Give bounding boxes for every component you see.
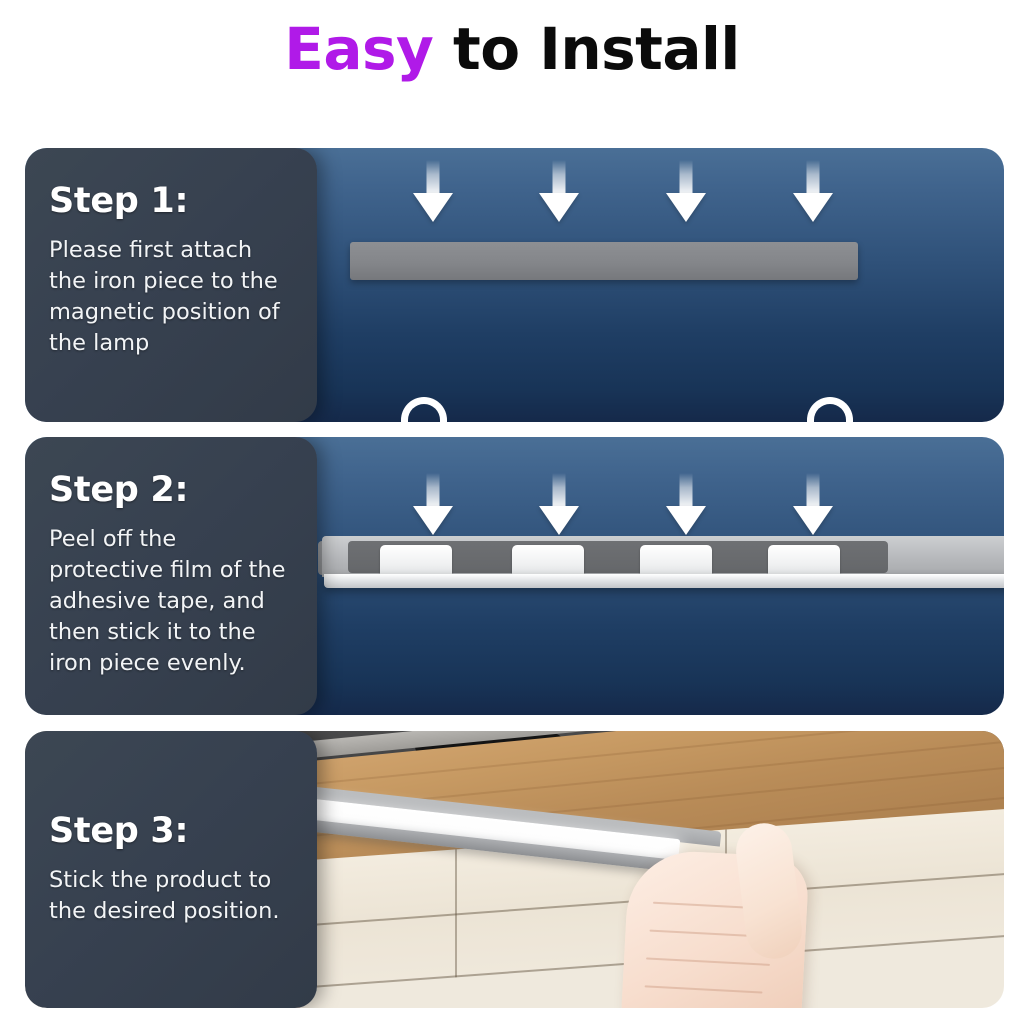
arrow-down-icon — [539, 160, 579, 222]
lamp-bar-with-tape — [322, 536, 1004, 589]
arrow-head — [539, 506, 579, 535]
iron-piece-strip — [350, 242, 858, 280]
step-title: Step 3: — [49, 812, 293, 851]
arrow-shaft — [807, 473, 820, 509]
arrow-down-icon — [793, 160, 833, 222]
step-body: Please first attach the iron piece to th… — [49, 235, 293, 359]
arrow-head — [413, 506, 453, 535]
arrow-shaft — [680, 473, 693, 509]
arrow-head — [793, 193, 833, 222]
arrow-head — [539, 193, 579, 222]
page-title: Easy to Install — [0, 18, 1024, 82]
step-card-2: Step 2: Peel off the protective film of … — [25, 437, 317, 715]
lamp-bottom-face — [324, 574, 1004, 588]
page-title-accent: Easy — [284, 15, 433, 83]
magnet-horseshoe — [401, 397, 447, 422]
step-card-3: Step 3: Stick the product to the desired… — [25, 731, 317, 1008]
arrow-shaft — [427, 473, 440, 509]
arrow-head — [666, 506, 706, 535]
arrow-down-icon — [413, 473, 453, 535]
arrow-down-icon — [793, 473, 833, 535]
finger-crease — [645, 985, 763, 993]
arrow-shaft — [553, 160, 566, 196]
arrow-shaft — [680, 160, 693, 196]
magnet-icon: ⚡ ⚡ — [801, 397, 859, 422]
step-title: Step 1: — [49, 182, 293, 221]
page-title-rest: to Install — [433, 15, 739, 83]
arrow-shaft — [807, 160, 820, 196]
step-panel-2: Step 2: Peel off the protective film of … — [25, 437, 1004, 715]
arrow-down-icon — [666, 473, 706, 535]
step-body: Peel off the protective film of the adhe… — [49, 524, 293, 679]
step-panel-1: ⚡ ⚡ ⚡ ⚡ Step 1: Please first attach the … — [25, 148, 1004, 422]
finger-crease — [646, 957, 770, 965]
step-body: Stick the product to the desired positio… — [49, 865, 293, 927]
arrow-down-icon — [539, 473, 579, 535]
step-title: Step 2: — [49, 471, 293, 510]
arrow-head — [666, 193, 706, 222]
magnet-horseshoe — [807, 397, 853, 422]
magnet-icon: ⚡ ⚡ — [395, 397, 453, 422]
arrow-down-icon — [413, 160, 453, 222]
step-panel-3: Step 3: Stick the product to the desired… — [25, 731, 1004, 1008]
arrow-shaft — [553, 473, 566, 509]
arrow-down-icon — [666, 160, 706, 222]
step-card-1: Step 1: Please first attach the iron pie… — [25, 148, 317, 422]
arrow-head — [413, 193, 453, 222]
tile-grout-line — [455, 849, 457, 977]
arrow-shaft — [427, 160, 440, 196]
arrow-head — [793, 506, 833, 535]
